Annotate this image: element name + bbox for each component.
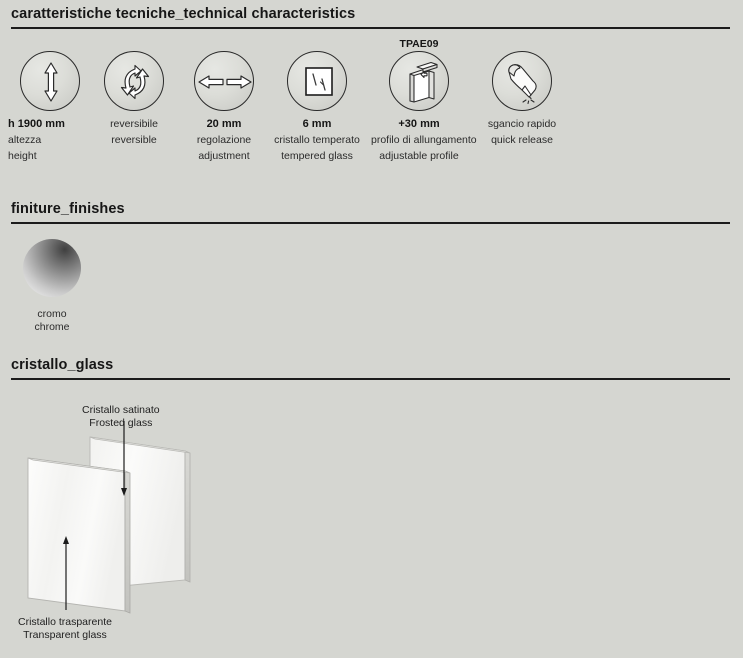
feature-adjustable-profile: TPAE09 xyxy=(371,38,467,162)
transparent-glass-panel xyxy=(28,458,130,613)
tempered-glass-pane-icon xyxy=(288,52,348,112)
section-header-finishes: finiture_finishes xyxy=(11,200,731,224)
feature-reversible: reversibile reversible xyxy=(86,38,182,146)
feature-desc-it: cristallo temperato xyxy=(269,134,365,147)
feature-code xyxy=(2,38,98,51)
finish-item-chrome[interactable]: cromo chrome xyxy=(13,239,91,333)
feature-icon-wrap xyxy=(492,51,552,111)
section-title-glass: cristallo_glass xyxy=(11,356,731,374)
finish-label-en: chrome xyxy=(13,321,91,334)
icon-circle xyxy=(492,51,552,111)
section-header-technical: caratteristiche tecniche_technical chara… xyxy=(11,5,731,29)
feature-icon-wrap xyxy=(104,51,164,111)
feature-desc-en: tempered glass xyxy=(269,150,365,163)
chrome-sphere-swatch xyxy=(23,239,81,297)
feature-value: 6 mm xyxy=(269,118,365,131)
feature-desc-en: height xyxy=(8,150,98,163)
feature-tempered-glass: 6 mm cristallo temperato tempered glass xyxy=(269,38,365,162)
feature-desc-en: quick release xyxy=(474,134,570,147)
callout-frosted-label-en: Frosted glass xyxy=(82,417,160,430)
feature-value: +30 mm xyxy=(371,118,467,131)
feature-value: h 1900 mm xyxy=(8,118,98,131)
feature-desc-it: sgancio rapido xyxy=(474,118,570,131)
section-title-technical: caratteristiche tecniche_technical chara… xyxy=(11,5,731,23)
icon-circle xyxy=(389,51,449,111)
callout-frosted-label-it: Cristallo satinato xyxy=(82,404,160,417)
finish-label-it: cromo xyxy=(13,308,91,321)
feature-desc-it: profilo di allungamento xyxy=(371,134,467,147)
section-divider xyxy=(11,378,730,380)
callout-transparent-label-en: Transparent glass xyxy=(18,629,112,642)
feature-value: 20 mm xyxy=(176,118,272,131)
feature-quick-release: sgancio rapido quick release xyxy=(474,38,570,146)
extension-profile-icon xyxy=(390,52,450,112)
technical-features-row: h 1900 mm altezza height reversibile rev… xyxy=(0,38,743,168)
feature-icon-wrap xyxy=(20,51,80,111)
feature-icon-wrap xyxy=(287,51,347,111)
horizontal-double-arrow-icon xyxy=(195,52,255,112)
icon-circle xyxy=(287,51,347,111)
feature-icon-wrap xyxy=(194,51,254,111)
feature-code xyxy=(474,38,570,51)
icon-circle xyxy=(20,51,80,111)
feature-desc-it: altezza xyxy=(8,134,98,147)
icon-circle xyxy=(194,51,254,111)
feature-desc-it: regolazione xyxy=(176,134,272,147)
feature-desc-en: adjustable profile xyxy=(371,150,467,163)
section-header-glass: cristallo_glass xyxy=(11,356,731,380)
feature-code xyxy=(86,38,182,51)
reversible-rotation-arrows-icon xyxy=(105,52,165,112)
callout-transparent-glass: Cristallo trasparente Transparent glass xyxy=(18,616,112,641)
glass-panels-diagram xyxy=(0,395,300,653)
feature-desc-en: reversible xyxy=(86,134,182,147)
hand-quick-release-icon xyxy=(493,52,553,112)
callout-transparent-label-it: Cristallo trasparente xyxy=(18,616,112,629)
feature-height: h 1900 mm altezza height xyxy=(2,38,98,162)
feature-desc-en: adjustment xyxy=(176,150,272,163)
feature-code xyxy=(269,38,365,51)
feature-desc-it: reversibile xyxy=(86,118,182,131)
feature-icon-wrap xyxy=(389,51,449,111)
section-divider xyxy=(11,222,730,224)
section-title-finishes: finiture_finishes xyxy=(11,200,731,218)
glass-illustration: Cristallo satinato Frosted glass xyxy=(0,395,300,653)
feature-code xyxy=(176,38,272,51)
section-divider xyxy=(11,27,730,29)
icon-circle xyxy=(104,51,164,111)
feature-adjustment: 20 mm regolazione adjustment xyxy=(176,38,272,162)
feature-code: TPAE09 xyxy=(371,38,467,51)
callout-frosted-glass: Cristallo satinato Frosted glass xyxy=(82,404,160,429)
vertical-double-arrow-icon xyxy=(21,52,81,112)
